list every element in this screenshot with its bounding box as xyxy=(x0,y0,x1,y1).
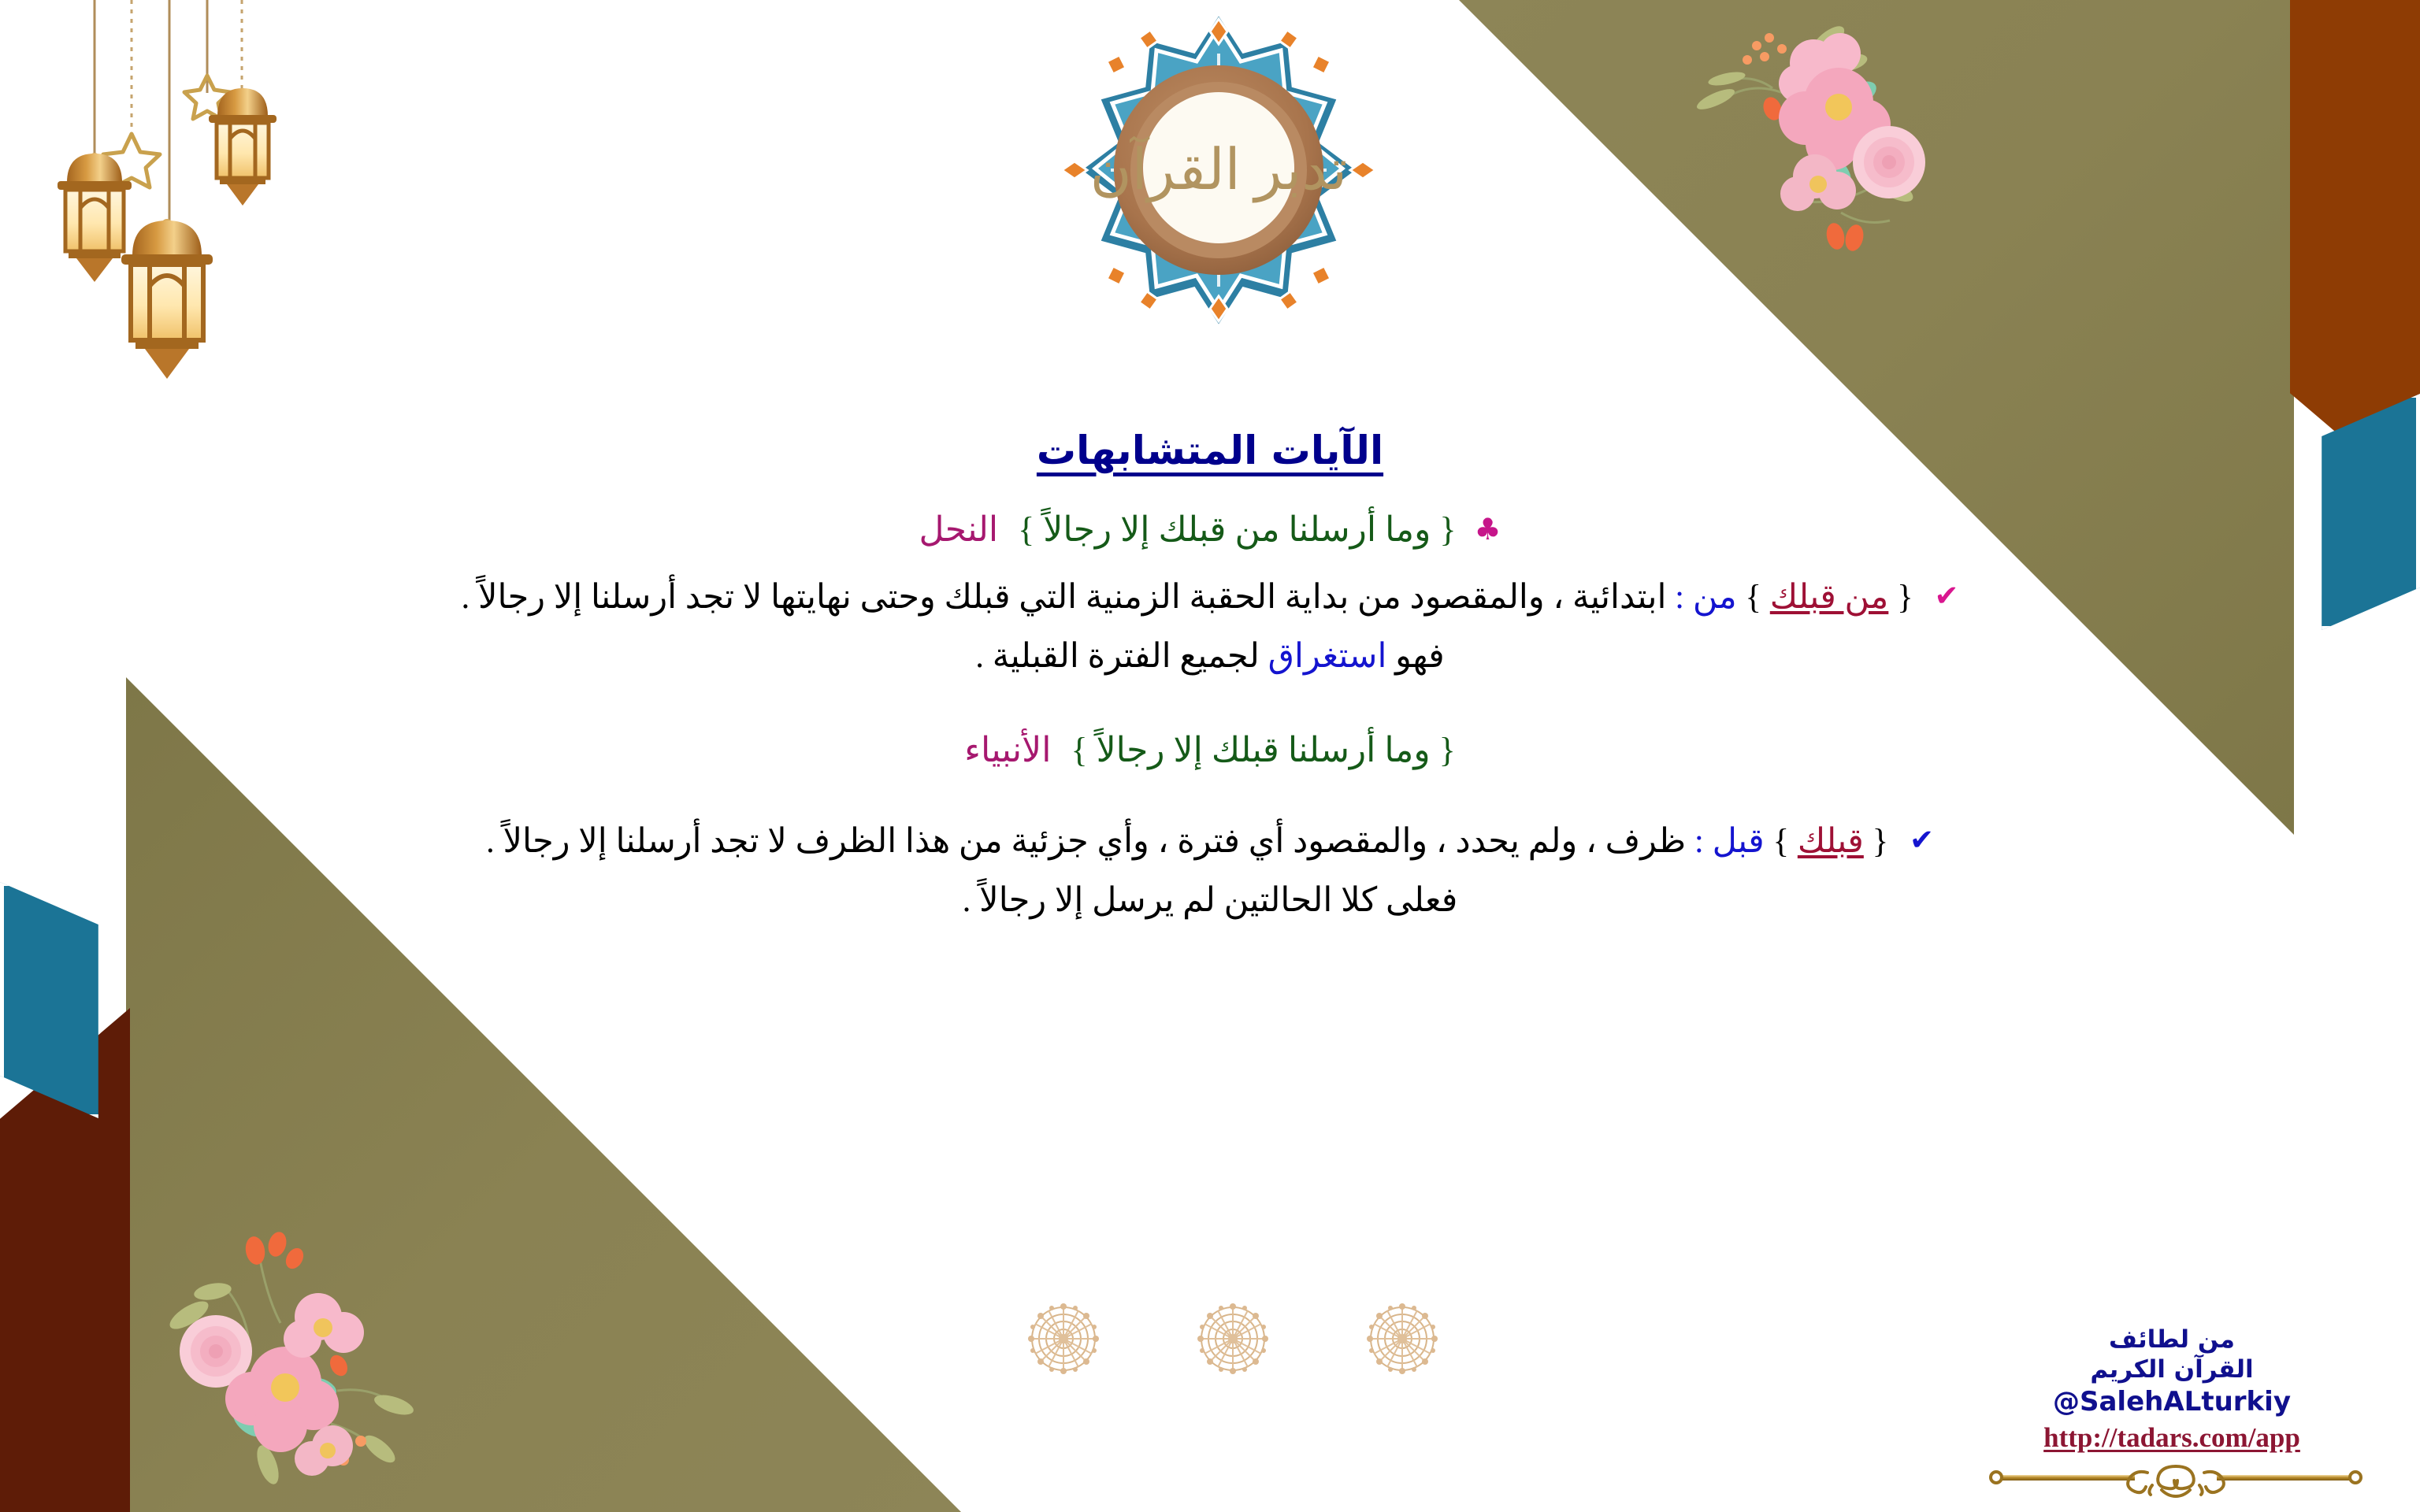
note-istighraq: فهو استغراق لجميع الفترة القبلية . xyxy=(237,630,2183,684)
brace-open: { xyxy=(1873,823,1889,860)
quoted-term: قبلك xyxy=(1798,823,1864,860)
gold-divider-ornament xyxy=(1979,1462,2373,1498)
explanation-body: ظرف ، ولم يحدد ، والمقصود أي فترة ، وأي … xyxy=(486,823,1686,860)
verse-line-an-nahl: ♣ { وما أرسلنا من قبلك إلا رجالاً } النح… xyxy=(237,504,2183,556)
medallion-calligraphy: تدبر القرآن xyxy=(1090,135,1348,203)
floral-bouquet-bottom-left xyxy=(134,1213,433,1488)
check-mark-icon: ✔ xyxy=(1934,579,1958,613)
note-conclusion: فعلى كلا الحالتين لم يرسل إلا رجالاً . xyxy=(237,874,2183,928)
credit-line-1: من لطائف xyxy=(1979,1325,2365,1355)
surah-name: الأنبياء xyxy=(964,731,1051,769)
verse-line-al-anbiya: { وما أرسلنا قبلك إلا رجالاً } الأنبياء xyxy=(237,724,2183,776)
quoted-term: من قبلك xyxy=(1770,579,1889,616)
colon-separator: : xyxy=(1675,579,1684,616)
hanging-lanterns-decoration xyxy=(8,0,339,504)
verse-text: { وما أرسلنا من قبلك إلا رجالاً } xyxy=(1018,510,1456,549)
mandala-ornament-icon xyxy=(1363,1299,1442,1378)
floral-bouquet-top-right xyxy=(1672,8,1955,268)
slide-content: الآيات المتشابهات ♣ { وما أرسلنا من قبلك… xyxy=(0,429,2420,928)
colon-separator: : xyxy=(1694,823,1704,860)
club-bullet-icon: ♣ xyxy=(1474,512,1501,547)
credit-block: من لطائف القرآن الكريم @SalehALturkiy ht… xyxy=(1979,1325,2365,1455)
note-highlight: استغراق xyxy=(1268,638,1387,675)
quran-tadabbur-medallion: تدبر القرآن xyxy=(1049,6,1388,345)
slide-canvas: تدبر القرآن xyxy=(0,0,2420,1512)
brace-close: } xyxy=(1772,823,1789,860)
note-prefix: فعلى كلا الحالتين لم يرسل إلا رجالاً . xyxy=(963,882,1458,919)
website-link[interactable]: http://tadars.com/app xyxy=(1979,1420,2365,1456)
verse-text: { وما أرسلنا قبلك إلا رجالاً } xyxy=(1071,731,1455,769)
twitter-handle[interactable]: @SalehALturkiy xyxy=(1979,1384,2365,1419)
mandala-ornament-icon xyxy=(1024,1299,1103,1378)
explanation-al-anbiya: ✔ { قبلك } قبل : ظرف ، ولم يحدد ، والمقص… xyxy=(237,814,2183,869)
note-prefix: فهو xyxy=(1395,638,1445,675)
keyword-qabl: قبل xyxy=(1713,823,1765,860)
credit-line-2: القرآن الكريم xyxy=(1979,1355,2365,1385)
note-suffix: لجميع الفترة القبلية . xyxy=(975,638,1260,675)
keyword-min: من xyxy=(1693,579,1737,616)
mandala-ornament-row xyxy=(1024,1280,1442,1398)
surah-name: النحل xyxy=(919,510,998,549)
explanation-body: ابتدائية ، والمقصود من بداية الحقبة الزم… xyxy=(462,579,1667,616)
section-al-anbiya: { وما أرسلنا قبلك إلا رجالاً } الأنبياء … xyxy=(237,724,2183,928)
brace-open: { xyxy=(1897,579,1913,616)
brace-close: } xyxy=(1745,579,1761,616)
section-an-nahl: ♣ { وما أرسلنا من قبلك إلا رجالاً } النح… xyxy=(237,504,2183,684)
mandala-ornament-icon xyxy=(1193,1299,1272,1378)
check-mark-icon: ✔ xyxy=(1910,823,1934,857)
explanation-an-nahl: ✔ { من قبلك } من : ابتدائية ، والمقصود م… xyxy=(237,570,2183,625)
page-title: الآيات المتشابهات xyxy=(0,429,2420,472)
